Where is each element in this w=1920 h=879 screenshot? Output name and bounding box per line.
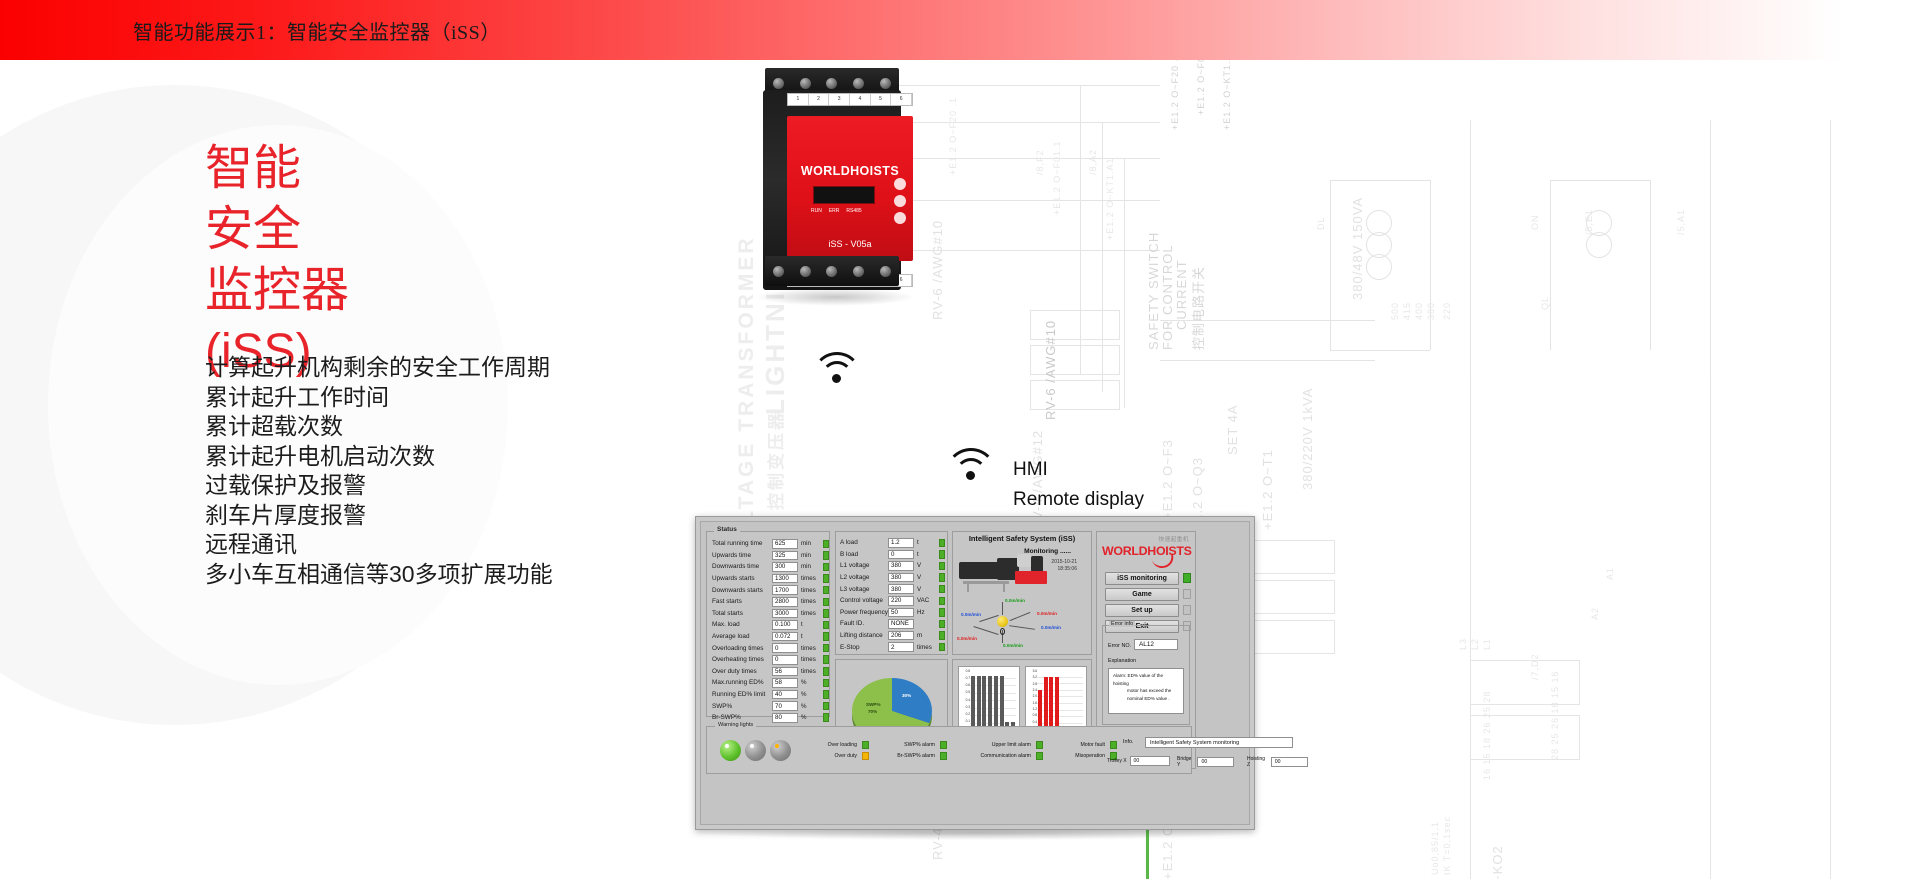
meas-led [939,631,945,640]
speed-hoist-up: 0.0m/min [1005,598,1025,603]
row-label: E-Stop [840,644,888,651]
terminal-screw [826,78,837,89]
status-led [823,679,829,688]
terminal-screw [800,266,811,277]
pie-slice-label-swp: SWP% [866,702,881,707]
warning-column-4: Motor fault Misoperation [1043,739,1117,761]
row-unit: m [917,632,936,639]
left-column: 智能 安全 监控器 (iSS) 计算起升机构剩余的安全工作周期 累计起升工作时间… [0,60,560,879]
meas-row-a-load: A load 1.2 t [836,537,947,549]
error-explanation-line: motor has exceed the [1113,687,1179,695]
row-unit: times [917,644,936,651]
status-led [823,690,829,699]
status-row-total-running-time: Total running time 625 min [707,538,829,550]
daily-energy-plot [1037,670,1083,730]
row-label: A load [840,539,888,546]
meas-led [939,539,945,548]
speed-trolley-right: 0.0m/min [957,636,977,641]
warning-label: SWP% alarm [904,742,935,748]
warning-communication-alarm: Communication alarm [947,750,1043,761]
error-explanation-line: nominal ED% value . [1113,695,1179,703]
daily-energy-yaxis: 3.6 3.2 2.8 2.4 2.0 1.6 1.2 0.8 0.4 0.0 [1027,669,1037,730]
cable-label-rv6-a: RV-6 /AWG#10 [1043,320,1058,420]
meas-led [939,620,945,629]
status-led [823,598,829,607]
row-label: Overloading times [712,645,772,652]
warning-column-1: Over loading Over duty [797,739,869,761]
iss-device-photo: 1 2 3 4 5 6 WORLDHOISTS RUN ERR RS485 iS… [745,60,925,320]
terminal-screw [773,78,784,89]
status-row-upwards-starts: Upwards starts 1300 times [707,573,829,585]
lamp-idle2 [770,740,791,761]
row-value[interactable]: 2800 [772,597,798,607]
row-unit: % [801,679,820,686]
status-row-max-running-ed: Max.running ED% 58 % [707,677,829,689]
status-row-upwards-time: Upwards time 325 min [707,550,829,562]
hmi-caption-line-2: Remote display [1013,485,1144,515]
setup-button[interactable]: Set up [1105,604,1179,617]
bar [1055,677,1059,730]
status-led [823,586,829,595]
row-label: Upwards starts [712,575,772,582]
error-no-label: Error NO. [1108,643,1131,649]
row-label: Max.running ED% [712,679,772,686]
hook-icon [1000,628,1005,635]
device-button-group[interactable] [894,178,906,224]
device-display [813,186,875,204]
device-button-up[interactable] [894,178,906,190]
feature-item: 过载保护及报警 [205,471,553,501]
meas-led [939,597,945,606]
row-unit: min [801,540,820,547]
warning-led [862,741,869,749]
row-value[interactable]: 380 [888,584,914,594]
lamp-idle1 [745,740,766,761]
row-value[interactable]: 80 [772,713,798,723]
device-model-label: iSS - V05a [787,239,913,249]
status-row-average-load: Average load 0.072 t [707,631,829,643]
hmi-caption-line-1: HMI [1013,455,1144,485]
lamp-highlight [750,744,754,748]
meas-row-control-voltage: Control voltage 220 VAC [836,595,947,607]
status-led [823,644,829,653]
feature-list: 计算起升机构剩余的安全工作周期 累计起升工作时间 累计超载次数 累计起升电机启动… [205,353,553,589]
measurement-panel: A load 1.2 t B load 0 t L1 voltage 380 V… [835,531,948,655]
row-value[interactable]: 1300 [772,574,798,584]
hmi-window-inner: Status Total running time 625 min Upward… [700,521,1250,825]
device-terminal-bottom [765,256,899,286]
row-value[interactable]: 380 [888,561,914,571]
warning-upper-limit-alarm: Upper limit alarm [947,739,1043,750]
lamp-highlight [775,744,779,748]
row-unit: times [801,575,820,582]
iss-heading: 智能 安全 监控器 (iSS) [205,138,349,382]
terminal-num: 5 [871,94,892,105]
status-row-max-load: Max. load 0.100 t [707,619,829,631]
brand-logo-text: WORLDHOISTS [1102,544,1192,558]
status-led [823,609,829,618]
row-unit: t [917,539,936,546]
status-row-over-duty-times: Over duty times 56 times [707,666,829,678]
brand-chinese-label: 快速起重机 [1159,535,1189,543]
row-unit: % [801,703,820,710]
iss-date: 2015-10-21 [1051,559,1077,565]
row-unit: % [801,714,820,721]
status-led [823,540,829,549]
error-explanation-label: Explanation [1108,658,1136,664]
terminal-screw [880,78,891,89]
meas-led [939,643,945,652]
iss-monitoring-panel: Intelligent Safety System (iSS) Monitori… [952,531,1092,655]
warning-led [1036,741,1043,749]
feature-item: 累计起升工作时间 [205,383,553,413]
row-unit: times [801,668,820,675]
device-shadow [755,288,915,306]
iss-heading-line-2: 安全 [205,199,349,260]
row-unit: times [801,598,820,605]
feature-item: 累计起升电机启动次数 [205,442,553,472]
led-label: RUN [811,208,822,214]
warning-led [1110,741,1117,749]
bridge-y-value[interactable]: 00 [1197,757,1234,767]
row-value[interactable]: NONE [888,619,914,629]
row-label: Lifting distance [840,632,888,639]
device-button-down[interactable] [894,195,906,207]
row-value[interactable]: 1.2 [888,538,914,548]
row-unit: min [801,563,820,570]
row-unit: times [801,645,820,652]
feature-item: 远程通讯 [205,530,553,560]
warning-lights-legend: Warning lights [715,722,756,728]
meas-row-l2-voltage: L2 voltage 380 V [836,572,947,584]
meas-led [939,585,945,594]
row-unit: t [801,633,820,640]
watermark-transformer-cn: 控制变压器 [762,410,787,510]
warning-led [940,752,947,760]
feature-item: 多小车互相通信等30多项扩展功能 [205,560,553,590]
speed-bridge-fwd: 0.0m/min [1041,625,1061,630]
warning-label: Over duty [835,753,858,759]
pie-slice-value-swp: 70% [868,709,877,714]
row-value[interactable]: 380 [888,573,914,583]
status-led [823,563,829,572]
meas-row-fault-id: Fault ID. NONE [836,618,947,630]
row-unit: t [917,551,936,558]
meas-row-power-frequency: Power frequency 50 Hz [836,607,947,619]
meas-led [939,608,945,617]
feature-item: 刹车片厚度报警 [205,501,553,531]
wifi-icon-device [812,352,862,386]
hoist-illustration [957,554,1053,596]
status-legend: Status [714,526,740,533]
lamp-highlight [725,744,729,748]
row-label: Over duty times [712,668,772,675]
bar [1044,677,1048,730]
iss-monitoring-button[interactable]: iSS monitoring [1105,572,1179,585]
page-title: 智能功能展示1：智能安全监控器（iSS） [133,16,501,45]
warning-label: Misoperation [1075,753,1105,759]
terminal-num: 6 [891,94,912,105]
warning-motor-fault: Motor fault [1043,739,1117,750]
bar [994,676,998,730]
row-label: SWP% [712,703,772,710]
hoisting-z-label: Hoisting Z [1247,756,1268,768]
row-label: Total starts [712,610,772,617]
row-unit: V [917,586,936,593]
terminal-num: 2 [809,94,830,105]
schem-tag-a: +E1.2 O~F20 .1 [1170,52,1180,130]
row-label: L3 voltage [840,586,888,593]
bridge-y-group: Bridge Y 00 [1177,756,1234,768]
terminal-screw [853,266,864,277]
lamp-run [720,740,741,761]
row-label: Fast starts [712,598,772,605]
hmi-window[interactable]: Status Total running time 625 min Upward… [695,516,1255,830]
row-label: Upwards time [712,552,772,559]
row-value[interactable]: 0 [772,643,798,653]
row-unit: times [801,656,820,663]
status-row-overloading-times: Overloading times 0 times [707,642,829,654]
terminal-screw [826,266,837,277]
pulley-icon [997,616,1008,627]
iss-monitoring-led [1183,573,1191,583]
error-explanation-text: Alarm: ED% value of the hoisting motor h… [1108,668,1184,714]
status-panel: Status Total running time 625 min Upward… [706,531,830,717]
info-label: Info. [1123,739,1134,745]
info-value-field[interactable]: Intelligent Safety System monitoring [1145,737,1293,748]
iss-heading-line-3: 监控器 [205,260,349,321]
status-row-overheating-times: Overheating times 0 times [707,654,829,666]
row-label: Fault ID. [840,620,888,627]
meas-row-l3-voltage: L3 voltage 380 V [836,583,947,595]
row-value[interactable]: 0.100 [772,620,798,630]
row-unit: times [801,587,820,594]
warning-label: Br-SWP% alarm [897,753,935,759]
row-label: Power frequency [840,609,888,616]
iss-heading-line-1: 智能 [205,138,349,199]
row-value[interactable]: 220 [888,596,914,606]
row-value[interactable]: 0 [772,655,798,665]
led-label: RS485 [846,208,861,214]
status-led [823,621,829,630]
warning-label: Upper limit alarm [992,742,1031,748]
row-value[interactable]: 206 [888,631,914,641]
warning-led [940,741,947,749]
warning-over-duty: Over duty [797,750,869,761]
status-row-downwards-starts: Downwards starts 1700 times [707,584,829,596]
led-label: ERR [829,208,840,214]
status-row-running-ed-limit: Running ED% limit 40 % [707,689,829,701]
row-value[interactable]: 2 [888,642,914,652]
row-value[interactable]: 56 [772,667,798,677]
row-unit: t [801,621,820,628]
trolley-x-value[interactable]: 00 [1130,756,1170,766]
meas-led [939,573,945,582]
speed-bridge-back: 0.0m/min [1037,611,1057,616]
meas-led [939,562,945,571]
row-unit: V [917,562,936,569]
row-unit: min [801,552,820,559]
warning-misoperation: Misoperation [1043,750,1117,761]
error-no-value[interactable]: AL12 [1134,639,1178,650]
row-label: Average load [712,633,772,640]
bar [1038,690,1042,730]
row-value[interactable]: 0 [888,550,914,560]
daily-loading-plot [970,670,1016,730]
device-led-labels: RUN ERR RS485 [811,208,881,214]
daily-loading-yaxis: 0.8 0.7 0.6 0.5 0.4 0.3 0.2 0.1 0.0 [960,669,970,730]
status-led [823,713,829,722]
row-value[interactable]: 70 [772,701,798,711]
status-led [823,702,829,711]
row-value[interactable]: 0.072 [772,632,798,642]
meas-row-e-stop: E-Stop 2 times [836,641,947,653]
feature-item: 计算起升机构剩余的安全工作周期 [205,353,553,383]
terminal-screw [800,78,811,89]
row-unit: Hz [917,609,936,616]
brand-swoosh-icon [1151,554,1175,570]
row-label: Control voltage [840,597,888,604]
row-unit: VAC [917,597,936,604]
warning-lights-panel: Warning lights Over loading Over duty SW… [706,726,1192,774]
trolley-x-label: Trolley X [1107,758,1127,764]
iss-panel-title: Intelligent Safety System (iSS) [953,534,1091,543]
device-brand-label: WORLDHOISTS [787,164,913,178]
status-led [823,655,829,664]
bar [988,676,992,730]
warning-column-3: Upper limit alarm Communication alarm [947,739,1043,761]
meas-row-b-load: B load 0 t [836,549,947,561]
feature-item: 累计超载次数 [205,412,553,442]
meas-row-lifting-distance: Lifting distance 206 m [836,630,947,642]
trolley-x-group: Trolley X 00 [1107,756,1170,766]
wifi-icon-hmi [945,448,997,484]
row-label: Total running time [712,540,772,547]
status-rows: Total running time 625 min Upwards time … [707,532,829,724]
terminal-screw [880,266,891,277]
speed-hoist-down: 0.0m/min [1003,643,1023,648]
status-row-fast-starts: Fast starts 2800 times [707,596,829,608]
bridge-y-label: Bridge Y [1177,756,1194,768]
bar [1000,676,1004,730]
warning-label: Motor fault [1080,742,1105,748]
status-led [823,574,829,583]
pie-slice-value-remaining: 30% [902,693,911,698]
row-label: Running ED% limit [712,691,772,698]
status-row-total-starts: Total starts 3000 times [707,608,829,620]
bar [1049,677,1053,730]
status-led [823,667,829,676]
row-label: B load [840,551,888,558]
daily-loading-bars [970,670,1016,730]
row-value[interactable]: 40 [772,690,798,700]
terminal-num: 1 [788,94,809,105]
row-value[interactable]: 3000 [772,609,798,619]
hoisting-z-value[interactable]: 00 [1271,757,1308,767]
terminal-num: 3 [829,94,850,105]
row-label: Downwards starts [712,587,772,594]
meas-led [939,550,945,559]
device-button-enter[interactable] [894,212,906,224]
error-explanation-line: Alarm: ED% value of the hoisting [1113,672,1179,687]
status-row-swp: SWP% 70 % [707,700,829,712]
row-value[interactable]: 58 [772,678,798,688]
terminal-screw [853,78,864,89]
error-info-legend: Error info [1109,621,1135,627]
row-unit: times [801,610,820,617]
game-led [1183,589,1191,599]
hmi-caption: HMI Remote display [1013,455,1144,515]
setup-led [1183,605,1191,615]
warning-swp-alarm: SWP% alarm [869,739,947,750]
row-label: L2 voltage [840,574,888,581]
header-bar: 智能功能展示1：智能安全监控器（iSS） [0,0,1920,60]
warning-led [862,752,869,760]
row-label: Downwards time [712,563,772,570]
bar [971,676,975,730]
row-label: Br-SWP% [712,714,772,721]
warning-over-loading: Over loading [797,739,869,750]
terminal-screw [773,266,784,277]
row-value[interactable]: 625 [772,539,798,549]
terminal-num: 4 [850,94,871,105]
status-led [823,632,829,641]
measurement-rows: A load 1.2 t B load 0 t L1 voltage 380 V… [836,532,947,653]
row-value[interactable]: 50 [888,608,914,618]
hoisting-z-group: Hoisting Z 00 [1247,756,1308,768]
status-row-downwards-time: Downwards time 300 min [707,561,829,573]
warning-column-2: SWP% alarm Br-SWP% alarm [869,739,947,761]
bar [977,676,981,730]
speed-trolley-left: 0.0m/min [961,612,981,617]
warning-br-swp-alarm: Br-SWP% alarm [869,750,947,761]
error-info-panel: Error info Error NO. AL12 Explanation Al… [1102,625,1190,725]
row-value[interactable]: 1700 [772,585,798,595]
iss-time: 18:35:06 [1058,566,1077,572]
row-value[interactable]: 300 [772,562,798,572]
device-faceplate: WORLDHOISTS RUN ERR RS485 iSS - V05a [787,116,913,261]
row-label: Max. load [712,621,772,628]
row-value[interactable]: 325 [772,551,798,561]
game-button[interactable]: Game [1105,588,1179,601]
daily-energy-bars [1037,670,1083,730]
warning-label: Over loading [828,742,857,748]
bar [982,676,986,730]
row-unit: % [801,691,820,698]
meas-row-l1-voltage: L1 voltage 380 V [836,560,947,572]
device-label-strip-top: 1 2 3 4 5 6 [787,93,913,106]
row-label: Overheating times [712,656,772,663]
warning-led [1036,752,1043,760]
row-unit: V [917,574,936,581]
warning-label: Communication alarm [981,753,1031,759]
row-label: L1 voltage [840,562,888,569]
status-led [823,551,829,560]
